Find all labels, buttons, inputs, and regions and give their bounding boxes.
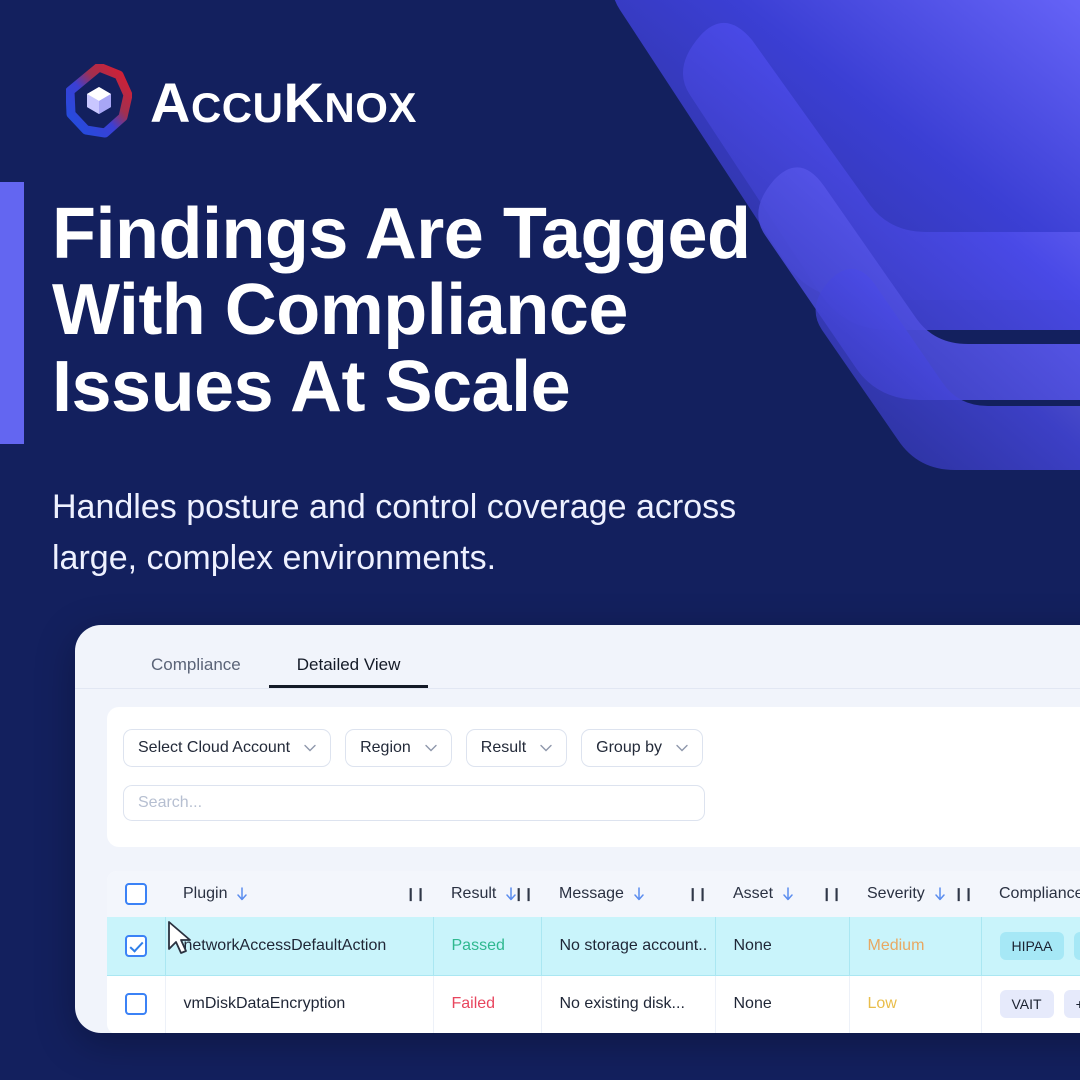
filter-row: Select Cloud Account Region Result Group… xyxy=(123,729,1080,767)
chevron-down-icon xyxy=(425,744,437,752)
column-resize-handle[interactable]: ❙❙ xyxy=(513,886,533,902)
brand-logo: ACCUKNOX xyxy=(66,64,417,142)
group-by-label: Group by xyxy=(596,739,662,757)
cell-message: No storage account.. xyxy=(541,917,715,975)
group-by-dropdown[interactable]: Group by xyxy=(581,729,703,767)
brand-name: ACCUKNOX xyxy=(150,75,417,131)
table-row[interactable]: vmDiskDataEncryption Failed No existing … xyxy=(107,975,1080,1033)
tab-bar: Compliance Detailed View xyxy=(75,625,1080,689)
hero-subtitle: Handles posture and control coverage acr… xyxy=(52,482,952,584)
tab-detailed-view[interactable]: Detailed View xyxy=(269,656,429,688)
select-cloud-account-dropdown[interactable]: Select Cloud Account xyxy=(123,729,331,767)
cell-plugin: networkAccessDefaultAction xyxy=(165,917,433,975)
sort-down-icon[interactable] xyxy=(934,887,946,901)
hero-line-3: Issues At Scale xyxy=(52,349,852,425)
column-resize-handle[interactable]: ❙❙ xyxy=(953,886,973,902)
cell-severity: Low xyxy=(849,975,981,1033)
chevron-down-icon xyxy=(304,744,316,752)
column-resize-handle[interactable]: ❙❙ xyxy=(821,886,841,902)
sort-down-icon[interactable] xyxy=(633,887,645,901)
cell-result: Failed xyxy=(433,975,541,1033)
findings-table: Plugin ❙❙ Result xyxy=(107,871,1080,1033)
select-cloud-account-label: Select Cloud Account xyxy=(138,739,290,757)
sort-down-icon[interactable] xyxy=(236,887,248,901)
chevron-down-icon xyxy=(540,744,552,752)
cell-message: No existing disk... xyxy=(541,975,715,1033)
compliance-more-badge[interactable]: +4 xyxy=(1064,990,1080,1018)
accuknox-cube-logo-icon xyxy=(66,64,132,142)
compliance-badge[interactable]: HIPAA xyxy=(1000,932,1065,960)
result-dropdown[interactable]: Result xyxy=(466,729,567,767)
column-result-label: Result xyxy=(451,885,496,903)
search-input[interactable] xyxy=(138,794,690,812)
cell-plugin: vmDiskDataEncryption xyxy=(165,975,433,1033)
cell-asset: None xyxy=(715,917,849,975)
brand-name-a: A xyxy=(150,71,191,134)
row-checkbox[interactable] xyxy=(125,935,147,957)
chevron-down-icon xyxy=(676,744,688,752)
cell-severity: Medium xyxy=(849,917,981,975)
row-select-cell[interactable] xyxy=(107,975,165,1033)
cell-result: Passed xyxy=(433,917,541,975)
brand-name-k: K xyxy=(283,71,324,134)
column-message[interactable]: Message ❙❙ xyxy=(541,871,715,917)
region-dropdown[interactable]: Region xyxy=(345,729,452,767)
compliance-badge[interactable]: VAIT xyxy=(1000,990,1054,1018)
table-header-row: Plugin ❙❙ Result xyxy=(107,871,1080,917)
row-checkbox[interactable] xyxy=(125,993,147,1015)
table-row[interactable]: networkAccessDefaultAction Passed No sto… xyxy=(107,917,1080,975)
column-severity-label: Severity xyxy=(867,885,925,903)
select-all-checkbox[interactable] xyxy=(125,883,147,905)
cell-asset: None xyxy=(715,975,849,1033)
filter-card: Select Cloud Account Region Result Group… xyxy=(107,707,1080,847)
column-select-all[interactable] xyxy=(107,871,165,917)
column-severity[interactable]: Severity ❙❙ xyxy=(849,871,981,917)
region-label: Region xyxy=(360,739,411,757)
result-label: Result xyxy=(481,739,526,757)
column-compliance-label: Compliance xyxy=(999,885,1080,903)
search-box[interactable] xyxy=(123,785,705,821)
hero-heading: Findings Are Tagged With Compliance Issu… xyxy=(52,196,852,425)
accent-bar xyxy=(0,182,24,444)
column-message-label: Message xyxy=(559,885,624,903)
app-screenshot-panel: Compliance Detailed View Select Cloud Ac… xyxy=(75,625,1080,1033)
hero-line-2: With Compliance xyxy=(52,272,852,348)
hero-subtitle-line-2: large, complex environments. xyxy=(52,533,952,584)
column-asset[interactable]: Asset ❙❙ xyxy=(715,871,849,917)
column-resize-handle[interactable]: ❙❙ xyxy=(405,886,425,902)
brand-name-ccu: CCU xyxy=(191,84,284,131)
cell-compliance: HIPAA +4 xyxy=(981,917,1080,975)
sort-down-icon[interactable] xyxy=(782,887,794,901)
column-plugin-label: Plugin xyxy=(183,885,227,903)
compliance-more-badge[interactable]: +4 xyxy=(1074,932,1080,960)
hero-subtitle-line-1: Handles posture and control coverage acr… xyxy=(52,482,952,533)
column-result[interactable]: Result ❙❙ xyxy=(433,871,541,917)
column-compliance[interactable]: Compliance ❙❙ xyxy=(981,871,1080,917)
hero-line-1: Findings Are Tagged xyxy=(52,196,852,272)
column-plugin[interactable]: Plugin ❙❙ xyxy=(165,871,433,917)
row-select-cell[interactable] xyxy=(107,917,165,975)
cell-compliance: VAIT +4 xyxy=(981,975,1080,1033)
column-asset-label: Asset xyxy=(733,885,773,903)
tab-compliance[interactable]: Compliance xyxy=(123,656,269,688)
column-resize-handle[interactable]: ❙❙ xyxy=(687,886,707,902)
brand-name-nox: NOX xyxy=(324,84,417,131)
